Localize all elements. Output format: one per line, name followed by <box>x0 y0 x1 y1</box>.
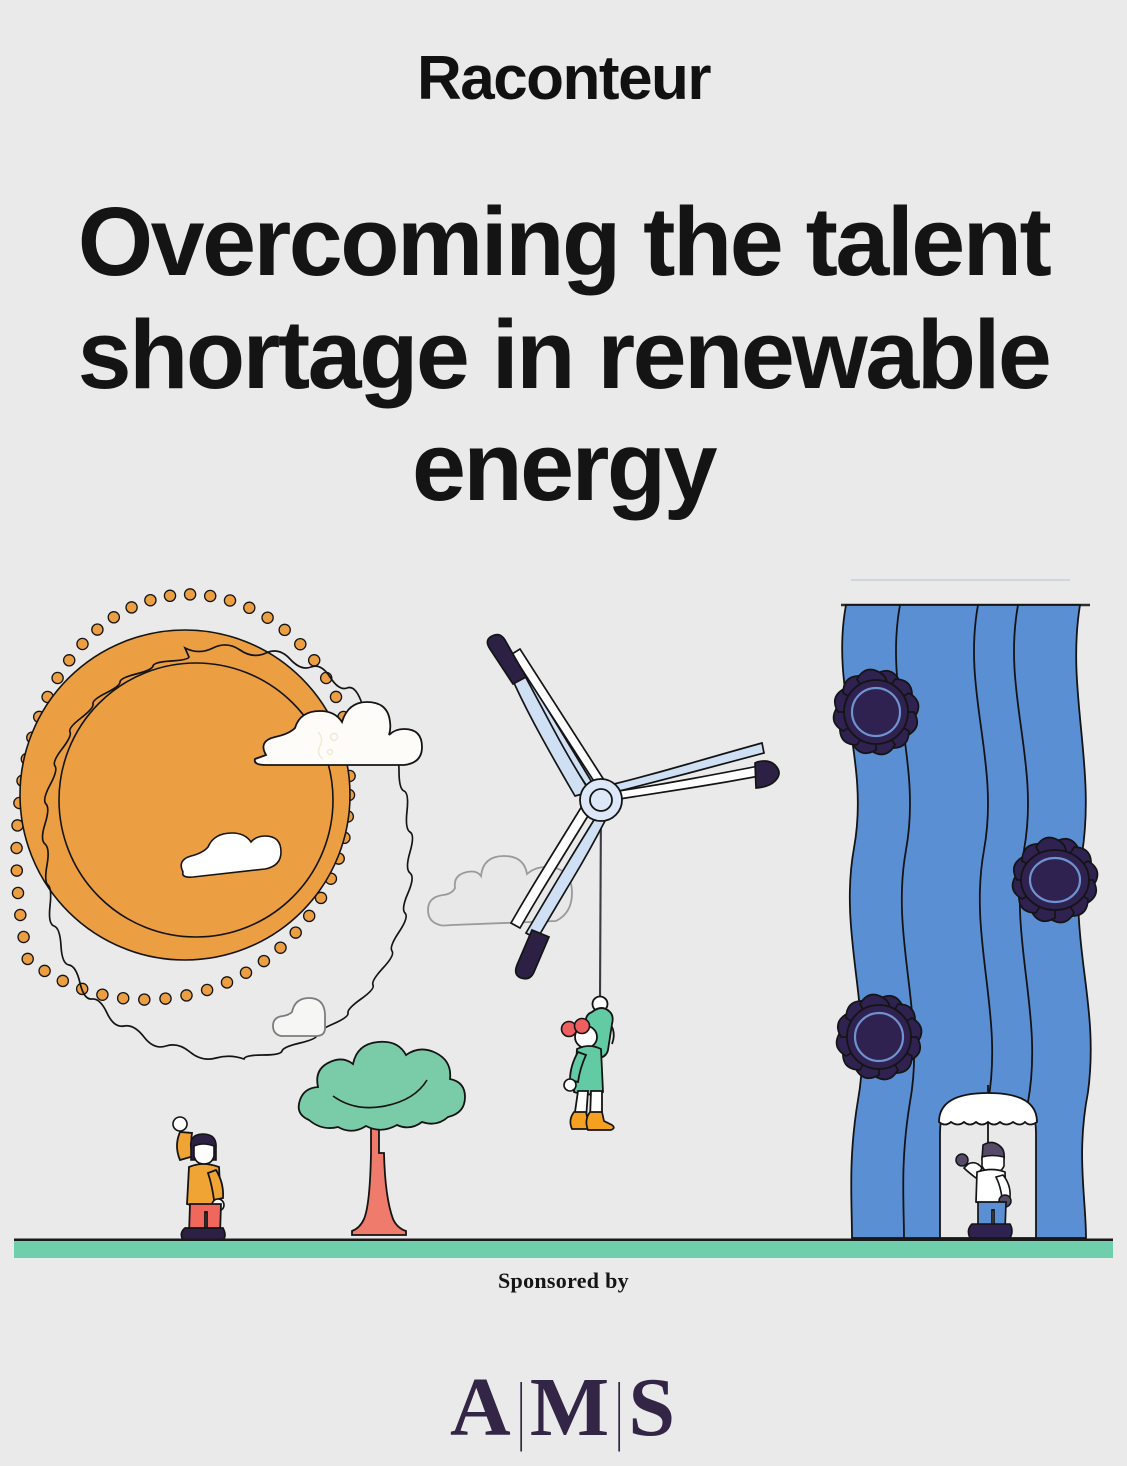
water-wheel-3-hub <box>847 1005 911 1069</box>
tree <box>299 1042 465 1235</box>
water-wheel-1 <box>828 664 925 761</box>
waving-person-hair <box>191 1134 216 1160</box>
climber-harness-ring <box>593 997 608 1012</box>
tree-foliage-detail <box>333 1080 427 1108</box>
water-stream-lines <box>896 605 1032 1238</box>
climber-leg-left <box>574 1091 588 1119</box>
climber-leg-right <box>590 1091 602 1119</box>
water-wheel-3 <box>831 989 928 1086</box>
page-title-line-1: Overcoming the talent <box>78 187 1050 296</box>
waving-person-shoes <box>181 1228 225 1240</box>
umbrella-person-shoes <box>968 1224 1012 1238</box>
water-wheel-1-blades <box>828 664 925 761</box>
turbine-blade-right <box>610 743 779 800</box>
umbrella-person <box>939 1085 1037 1238</box>
turbine-hub-ring <box>590 789 612 811</box>
water-wheel-1-hub <box>844 680 908 744</box>
umbrella-archway <box>940 1098 1036 1238</box>
sun-corona-dots <box>11 589 355 1005</box>
climber-arm-lowered <box>570 1052 586 1082</box>
umbrella-person-hand-up <box>956 1154 968 1166</box>
turbine-blade-lower-left <box>511 806 606 979</box>
sponsor-logo-letter-s: S <box>628 1361 677 1454</box>
tree-foliage <box>299 1042 465 1131</box>
waving-person-arm-down <box>208 1170 223 1200</box>
water-wheel-3-blades <box>831 989 928 1086</box>
water-wheel-1-hub-ring <box>852 688 900 736</box>
sponsor-logo-letter-a: A <box>450 1361 513 1454</box>
climber-head <box>575 1026 597 1048</box>
sun-icon <box>11 589 413 1059</box>
umbrella-person-arm-down <box>996 1175 1010 1199</box>
climber-hand <box>564 1079 576 1091</box>
water-wheel-2 <box>1007 832 1104 929</box>
sponsor-logo-separator-2: | <box>616 1372 624 1448</box>
sun-wavy-ring <box>43 645 413 1059</box>
cloud-large <box>255 702 422 765</box>
umbrella-person-hand-down <box>999 1195 1011 1207</box>
sponsor-logo-letter-m: M <box>530 1361 611 1454</box>
water-wheel-2-hub <box>1021 850 1089 910</box>
waving-person-head <box>194 1144 214 1164</box>
turbine-tether-line <box>600 800 601 1000</box>
page-title-line-3: energy <box>412 412 715 521</box>
umbrella-person-head <box>982 1156 1004 1174</box>
wind-turbine <box>487 635 779 1000</box>
waving-person-hand-down <box>212 1199 224 1211</box>
umbrella-person-legs <box>978 1202 1006 1230</box>
water-column <box>828 580 1104 1238</box>
water-wheel-2-blades <box>1007 832 1104 929</box>
sponsored-by-label: Sponsored by <box>0 1268 1127 1294</box>
tree-trunk <box>352 1089 406 1235</box>
climber-hair-bun-left <box>562 1022 577 1037</box>
climber-shoe-left <box>570 1112 598 1129</box>
page-title: Overcoming the talent shortage in renewa… <box>18 186 1109 524</box>
sponsor-logo-ams: A|M|S <box>0 1366 1127 1450</box>
water-wheel-2-hub-ring <box>1030 858 1080 902</box>
waving-person-trousers <box>189 1204 221 1234</box>
page-title-line-2: shortage in renewable <box>78 300 1050 409</box>
umbrella-person-torso <box>976 1170 1006 1205</box>
water-body <box>842 605 1091 1238</box>
cloud-small <box>273 998 325 1036</box>
waving-person <box>173 1117 225 1240</box>
sponsor-logo-separator-1: | <box>517 1372 525 1448</box>
brand-logo-raconteur: Raconteur <box>0 48 1127 110</box>
umbrella-person-arm-up <box>964 1163 982 1178</box>
ground <box>14 1240 1113 1258</box>
waving-person-hand-raised <box>173 1117 187 1131</box>
climber-sleeve <box>586 1008 613 1058</box>
report-cover-page: Raconteur Overcoming the talent shortage… <box>0 0 1127 1466</box>
sun-inner-cloud <box>181 833 281 877</box>
cloud-outline <box>428 856 572 926</box>
sun-body <box>20 630 350 960</box>
sponsored-by-text: Sponsored by <box>498 1268 629 1293</box>
brand-logo-text: Raconteur <box>417 44 710 113</box>
climber-arm-raised <box>604 1018 614 1044</box>
umbrella-canopy <box>939 1093 1037 1125</box>
ground-strip <box>14 1241 1113 1258</box>
umbrella-person-hair <box>982 1142 1004 1159</box>
waving-person-arm-raised <box>177 1132 194 1160</box>
climber <box>562 997 614 1131</box>
cloud-large-detail <box>318 732 338 759</box>
climber-shoe-right <box>586 1112 613 1130</box>
water-wheel-3-hub-ring <box>855 1013 903 1061</box>
sun-inner-outline <box>59 663 333 937</box>
waving-person-jacket <box>187 1164 221 1207</box>
turbine-blade-upper-left <box>487 635 604 796</box>
climber-body <box>574 1046 603 1095</box>
turbine-hub <box>580 779 622 821</box>
climber-hair-bun-right <box>575 1019 590 1034</box>
